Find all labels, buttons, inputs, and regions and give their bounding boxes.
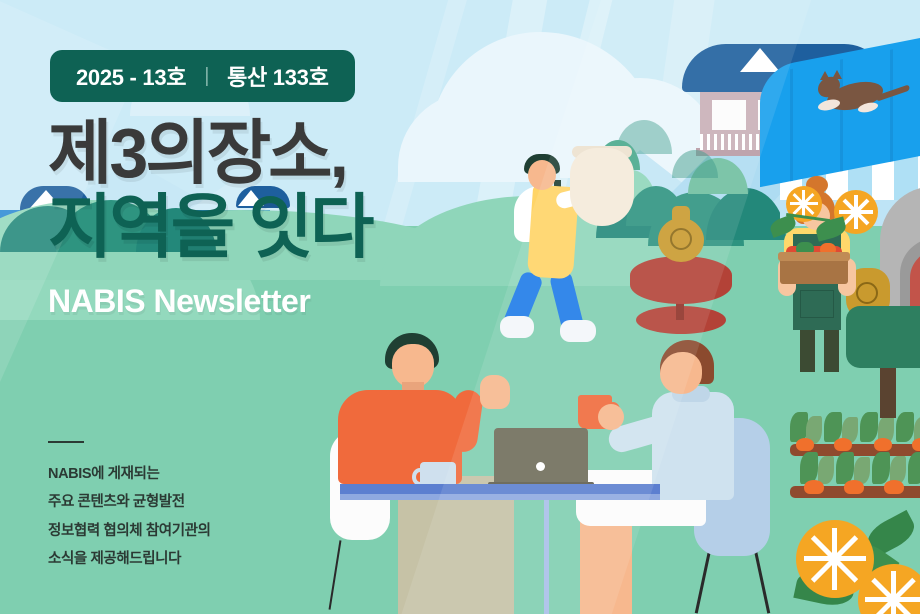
pot-seal (856, 282, 878, 304)
flower-icon (858, 564, 920, 614)
badge-separator: | (204, 65, 209, 88)
farmer-apron-pocket (800, 290, 834, 318)
cat-ear (832, 70, 842, 79)
cat-ear (820, 71, 830, 80)
tree-foliage (846, 306, 920, 368)
serial-number: 통산 133호 (227, 60, 328, 92)
description-line-3: 정보협력 협의체 참여기관의 (48, 517, 211, 545)
description-line-4: 소식을 제공해드립니다 (48, 545, 211, 573)
description-line-1: NABIS에 게재되는 (48, 460, 211, 488)
page-title-line2: 지역을 잇다 (48, 192, 371, 262)
description-line-2: 주요 콘텐츠와 균형발전 (48, 488, 211, 516)
crate-rim (778, 252, 850, 261)
issue-number: 2025 - 13호 (76, 60, 186, 92)
page-title-line1: 제3의장소, (48, 118, 346, 188)
newsletter-banner: 2025 - 13호 | 통산 133호 제3의장소, 지역을 잇다 NABIS… (0, 0, 920, 614)
divider-line (48, 441, 84, 443)
vegetable-crate-icon (780, 258, 848, 284)
farmer-leg (800, 326, 815, 372)
issue-badge: 2025 - 13호 | 통산 133호 (50, 50, 355, 102)
newsletter-subtitle: NABIS Newsletter (48, 283, 310, 320)
farmer-leg (824, 326, 839, 372)
description-block: NABIS에 게재되는 주요 콘텐츠와 균형발전 정보협력 협의체 참여기관의 … (48, 460, 211, 573)
